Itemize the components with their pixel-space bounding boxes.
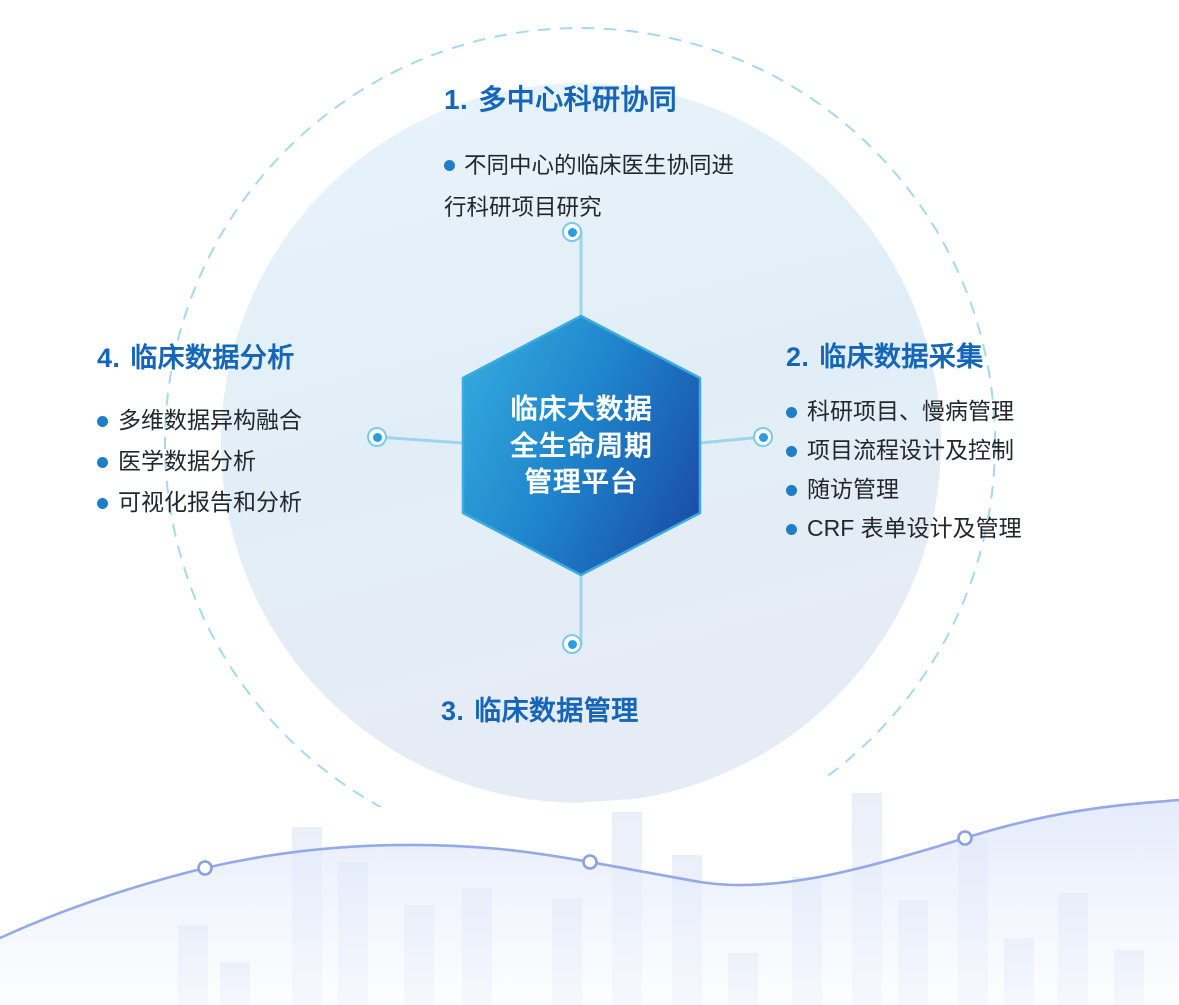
bullet-dot-icon bbox=[786, 407, 797, 418]
list-item: 可视化报告和分析 bbox=[97, 491, 302, 514]
bullet-dot-icon bbox=[786, 485, 797, 496]
section-4-title-text: 临床数据分析 bbox=[130, 343, 294, 373]
section-1-paragraph: 不同中心的临床医生协同进行科研项目研究 bbox=[444, 145, 744, 228]
section-2-title: 2. 临床数据采集 bbox=[786, 335, 1022, 374]
bullet-dot-icon bbox=[97, 457, 108, 468]
list-item: 科研项目、慢病管理 bbox=[786, 400, 1022, 423]
list-item-label: CRF 表单设计及管理 bbox=[807, 517, 1022, 540]
bullet-dot-icon bbox=[786, 524, 797, 535]
connector-node-bottom[interactable] bbox=[562, 634, 582, 654]
list-item-label: 多维数据异构融合 bbox=[118, 409, 302, 432]
center-hexagon-label: 临床大数据 全生命周期 管理平台 bbox=[463, 316, 700, 576]
section-3-title: 3. 临床数据管理 bbox=[441, 689, 639, 728]
bullet-dot-icon bbox=[97, 416, 108, 427]
bullet-dot-icon bbox=[786, 446, 797, 457]
bullet-dot-icon bbox=[444, 160, 455, 171]
list-item: CRF 表单设计及管理 bbox=[786, 517, 1022, 540]
list-item-label: 随访管理 bbox=[807, 478, 899, 501]
list-item-label: 科研项目、慢病管理 bbox=[807, 400, 1014, 423]
section-4-item-list: 多维数据异构融合 医学数据分析 可视化报告和分析 bbox=[97, 409, 302, 514]
section-clinical-data-management: 3. 临床数据管理 bbox=[441, 689, 639, 728]
section-2-title-text: 临床数据采集 bbox=[819, 342, 983, 372]
list-item: 随访管理 bbox=[786, 478, 1022, 501]
section-clinical-data-analysis: 4. 临床数据分析 多维数据异构融合 医学数据分析 可视化报告和分析 bbox=[97, 336, 302, 532]
center-line-3: 管理平台 bbox=[525, 464, 639, 501]
infographic-canvas: 临床大数据 全生命周期 管理平台 1. 多中心科研协同 不同中心的临床医生协同进… bbox=[0, 0, 1179, 1005]
list-item: 多维数据异构融合 bbox=[97, 409, 302, 432]
bullet-dot-icon bbox=[97, 498, 108, 509]
section-4-title: 4. 临床数据分析 bbox=[97, 336, 302, 375]
section-2-item-list: 科研项目、慢病管理 项目流程设计及控制 随访管理 CRF 表单设计及管理 bbox=[786, 400, 1022, 540]
section-1-number: 1. bbox=[444, 84, 468, 115]
section-3-number: 3. bbox=[441, 696, 464, 726]
center-line-1: 临床大数据 bbox=[510, 391, 653, 428]
list-item: 医学数据分析 bbox=[97, 450, 302, 473]
section-2-number: 2. bbox=[786, 342, 809, 372]
center-hexagon: 临床大数据 全生命周期 管理平台 bbox=[463, 316, 700, 576]
connector-node-right[interactable] bbox=[753, 427, 773, 447]
section-clinical-data-collection: 2. 临床数据采集 科研项目、慢病管理 项目流程设计及控制 随访管理 CRF 表… bbox=[786, 335, 1022, 556]
section-1-title-text: 多中心科研协同 bbox=[478, 84, 677, 115]
section-multicenter-research: 1. 多中心科研协同 不同中心的临床医生协同进行科研项目研究 bbox=[444, 78, 744, 228]
section-1-paragraph-text: 不同中心的临床医生协同进行科研项目研究 bbox=[444, 153, 734, 220]
list-item-label: 可视化报告和分析 bbox=[118, 491, 302, 514]
section-3-title-text: 临床数据管理 bbox=[474, 696, 638, 726]
section-4-number: 4. bbox=[97, 343, 120, 373]
center-line-2: 全生命周期 bbox=[510, 428, 653, 465]
list-item-label: 医学数据分析 bbox=[118, 450, 256, 473]
connector-node-left[interactable] bbox=[367, 427, 387, 447]
list-item: 项目流程设计及控制 bbox=[786, 439, 1022, 462]
list-item-label: 项目流程设计及控制 bbox=[807, 439, 1014, 462]
section-1-title: 1. 多中心科研协同 bbox=[444, 78, 744, 118]
